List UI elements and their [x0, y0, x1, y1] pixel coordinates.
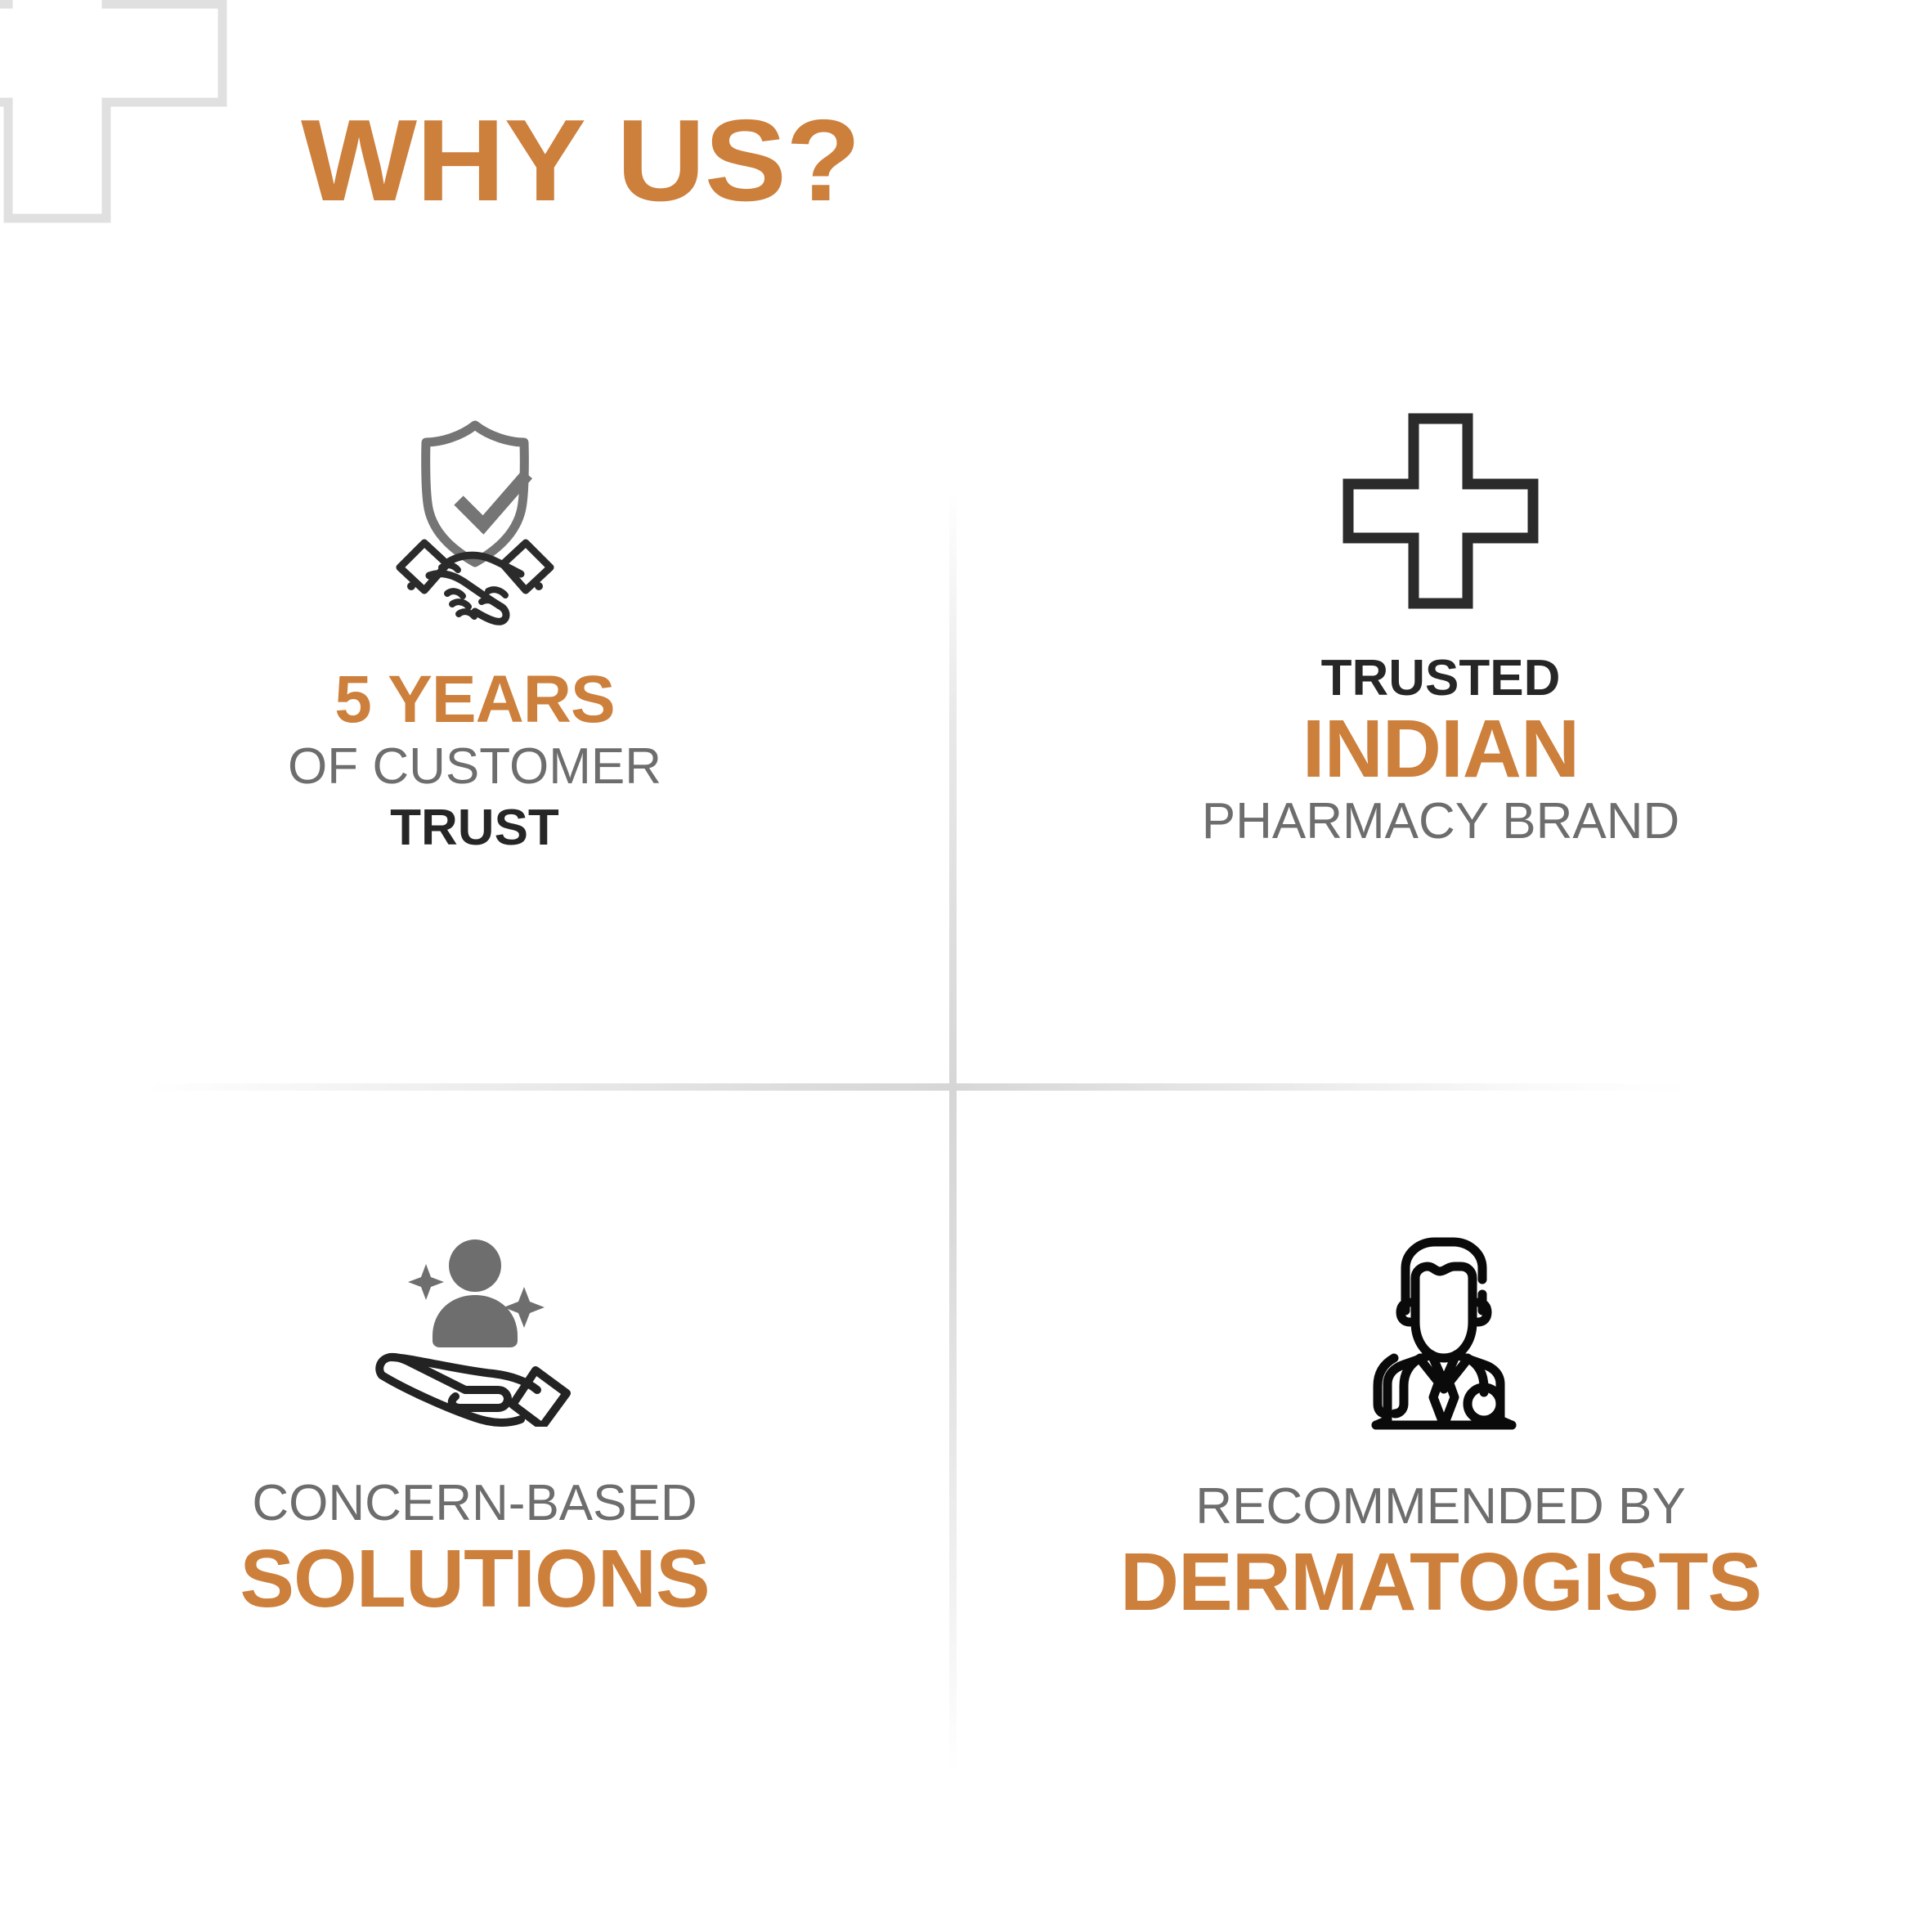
feature-line-3: TRUST	[288, 802, 661, 854]
feature-line-2: DERMATOGISTS	[1120, 1540, 1761, 1624]
feature-line-3: PHARMACY BRAND	[1202, 796, 1680, 847]
corner-cross-decoration	[0, 0, 229, 225]
handshake-shield-check-icon	[361, 415, 589, 628]
feature-caption: CONCERN-BASED SOLUTIONS	[240, 1477, 709, 1620]
feature-line-1: TRUSTED	[1202, 652, 1680, 704]
page-title: WHY US?	[301, 103, 860, 219]
feature-line-1: 5 YEARS	[288, 666, 661, 734]
medical-cross-icon	[1338, 409, 1543, 613]
feature-line-2: SOLUTIONS	[240, 1537, 709, 1620]
feature-line-1: CONCERN-BASED	[240, 1477, 709, 1529]
feature-card-years-of-trust: 5 YEARS OF CUSTOMER TRUST	[0, 343, 949, 1083]
hand-holding-person-sparkle-icon	[361, 1226, 589, 1427]
feature-caption: 5 YEARS OF CUSTOMER TRUST	[288, 666, 661, 854]
feature-line-1: RECOMMENDED BY	[1120, 1481, 1761, 1532]
feature-card-concern-based-solutions: CONCERN-BASED SOLUTIONS	[0, 1083, 949, 1815]
feature-line-2: INDIAN	[1202, 707, 1680, 791]
features-grid: 5 YEARS OF CUSTOMER TRUST TRUSTED INDIAN…	[0, 343, 1932, 1815]
doctor-stethoscope-icon	[1330, 1214, 1551, 1435]
feature-caption: TRUSTED INDIAN PHARMACY BRAND	[1202, 652, 1680, 847]
feature-line-2: OF CUSTOMER	[288, 741, 661, 792]
feature-caption: RECOMMENDED BY DERMATOGISTS	[1120, 1481, 1761, 1624]
feature-card-recommended-by-dermatogists: RECOMMENDED BY DERMATOGISTS	[949, 1083, 1932, 1815]
feature-card-trusted-indian-pharmacy: TRUSTED INDIAN PHARMACY BRAND	[949, 343, 1932, 1083]
